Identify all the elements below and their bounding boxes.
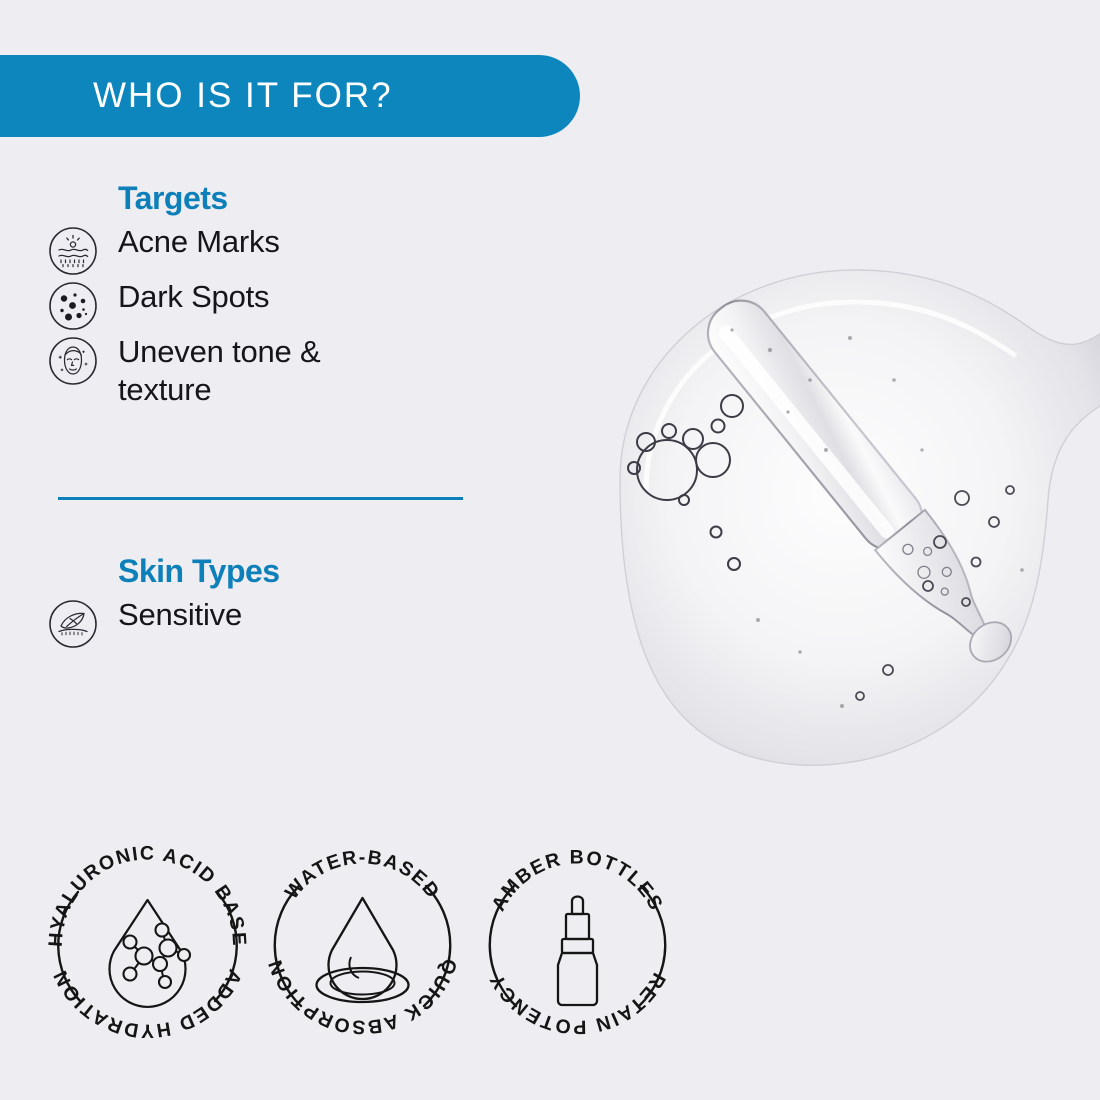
list-item-label: Dark Spots (118, 278, 269, 316)
section-divider (58, 497, 463, 500)
infographic-page: WHO IS IT FOR? (0, 0, 1100, 1100)
badge-water-based: WATER-BASED QUICK ABSORPTION (255, 838, 470, 1053)
targets-list: Acne Marks (0, 223, 500, 409)
header-banner: WHO IS IT FOR? (0, 55, 580, 137)
targets-section: Targets (0, 180, 500, 409)
list-item[interactable]: Uneven tone & texture (0, 333, 500, 409)
list-item[interactable]: Sensitive (0, 596, 500, 649)
scattered-dots-icon (48, 281, 98, 331)
list-item[interactable]: Acne Marks (0, 223, 500, 276)
list-item[interactable]: Dark Spots (0, 278, 500, 331)
badge-ring (58, 892, 237, 1001)
skin-layers-sun-icon (48, 226, 98, 276)
badge-bottom-text: ADDED HYDRATION (49, 966, 246, 1042)
left-content-column: Targets (0, 180, 500, 409)
targets-heading: Targets (118, 180, 500, 217)
list-item-label: Acne Marks (118, 223, 280, 261)
page-title: WHO IS IT FOR? (93, 76, 393, 116)
droplet-ripple-icon (317, 898, 409, 1002)
badge-top-text: WATER-BASED (281, 846, 444, 903)
feature-badges: HYALURONIC ACID BASE ADDED HYDRATION (40, 838, 700, 1058)
droplet-molecule-icon (110, 900, 191, 1007)
skin-types-list: Sensitive (0, 596, 500, 649)
face-icon (48, 336, 98, 386)
badge-hyaluronic-acid-base: HYALURONIC ACID BASE ADDED HYDRATION (40, 838, 255, 1053)
badge-amber-bottles: AMBER BOTTLES RETAIN POTENCY (470, 838, 685, 1053)
skin-types-section: Skin Types (0, 553, 500, 649)
skin-types-heading: Skin Types (118, 553, 500, 590)
serum-swatch-pipette-image (470, 150, 1100, 820)
feather-on-skin-icon (48, 599, 98, 649)
list-item-label: Sensitive (118, 596, 242, 634)
badge-top-text: AMBER BOTTLES (488, 847, 668, 915)
badge-top-text: HYALURONIC ACID BASE (45, 842, 251, 947)
badge-bottom-text: RETAIN POTENCY (485, 969, 670, 1038)
list-item-label: Uneven tone & texture (118, 333, 418, 409)
dropper-bottle-icon (558, 897, 597, 1006)
